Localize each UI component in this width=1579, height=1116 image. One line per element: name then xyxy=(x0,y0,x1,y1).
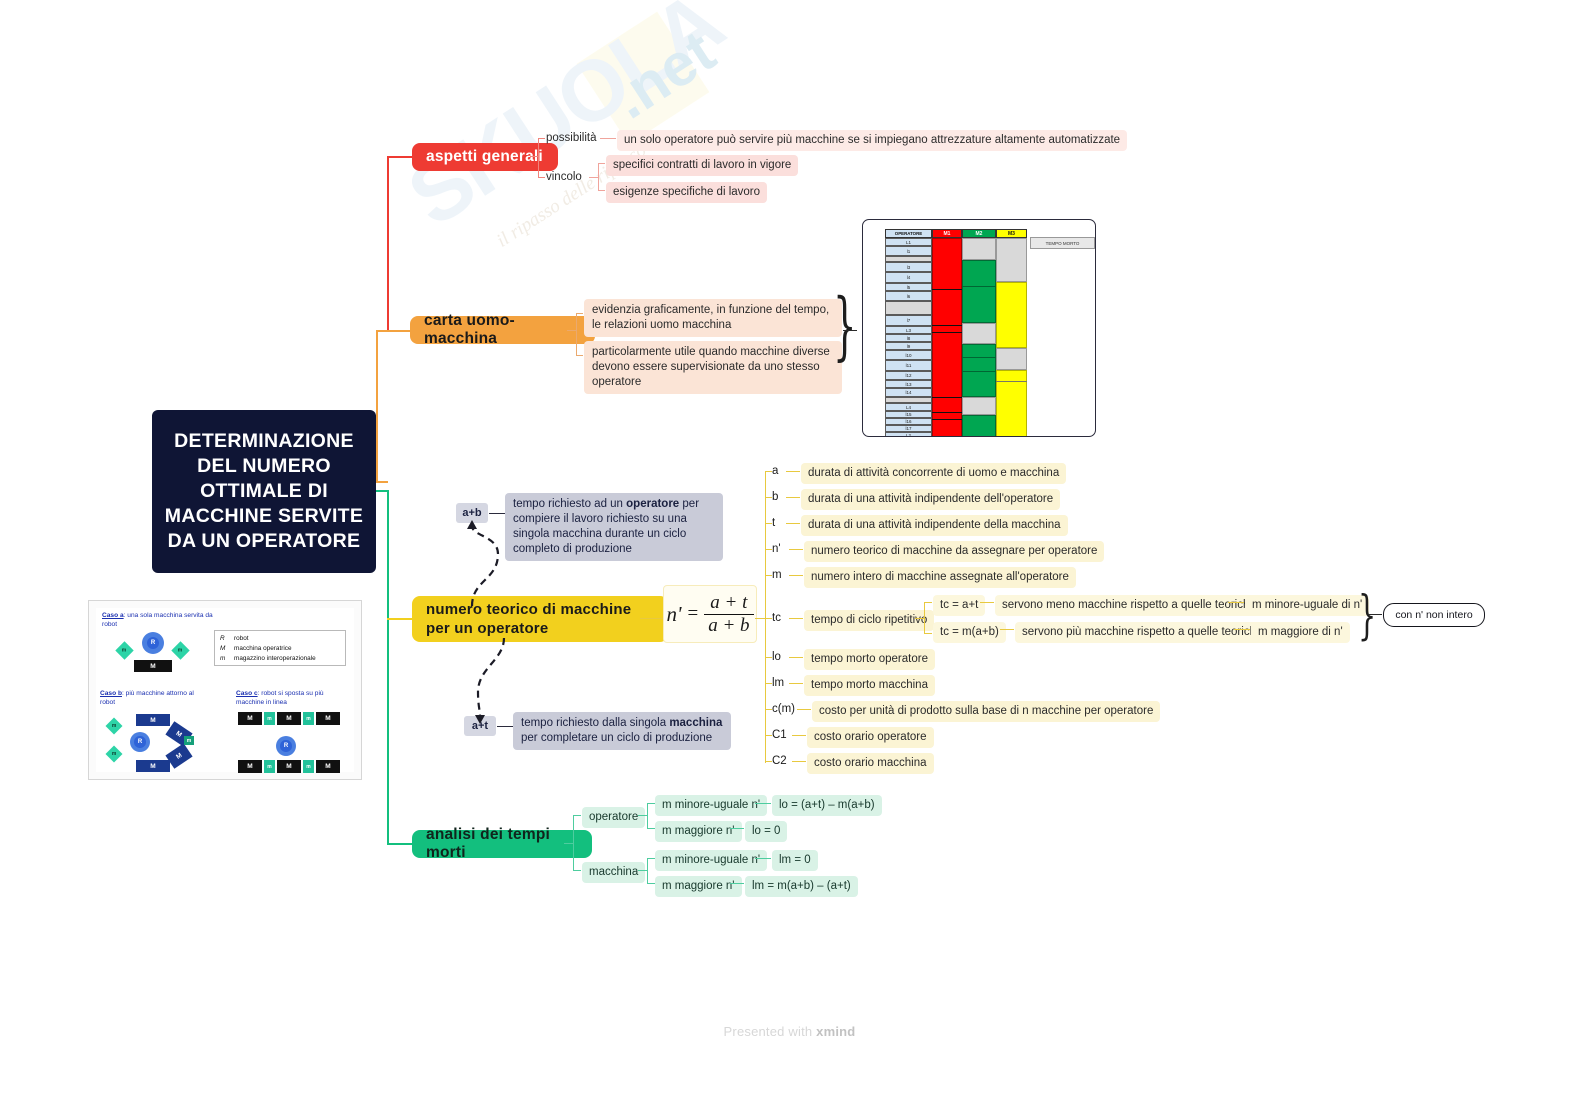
glossary-def-nprime: numero teorico di macchine da assegnare … xyxy=(804,541,1104,562)
connector-analisi xyxy=(387,843,413,845)
dashed-arrow-at xyxy=(452,638,582,724)
chart-div xyxy=(932,325,962,326)
store-box: m xyxy=(303,760,314,773)
chart-op-cell: l5 xyxy=(885,283,932,291)
glossary-def-c1: costo orario operatore xyxy=(807,727,934,748)
legend-def-mm: magazzino interoperazionale xyxy=(234,655,316,662)
trunk-orange-vertical xyxy=(376,330,378,482)
formula-n-teorico: n' = a + t a + b xyxy=(663,585,757,643)
trunk-orange-stub xyxy=(376,481,388,483)
legend-sym-mm: m xyxy=(220,654,234,664)
chart-bar-m3 xyxy=(996,282,1027,348)
chart-op-cell: l15 xyxy=(885,411,932,418)
chart-bar-m3-idle xyxy=(996,238,1027,282)
chart-bar-m2-idle xyxy=(962,397,996,415)
machine-box: M xyxy=(134,660,172,672)
chart-op-cell: l4 xyxy=(885,272,932,283)
chart-bar-m3-idle xyxy=(996,348,1027,370)
group-label-operatore: operatore xyxy=(582,807,645,828)
chart-bar-m2 xyxy=(962,260,996,323)
store-token: m xyxy=(112,751,116,757)
glossary-dash xyxy=(789,549,803,550)
caso-b-label: Caso b xyxy=(100,690,122,697)
callout-bold-operatore: operatore xyxy=(626,498,679,510)
formula-numerator: a + t xyxy=(706,593,751,614)
glossary-dash xyxy=(786,523,800,524)
glossary-dash xyxy=(792,761,806,762)
connector-possibilita-leaf xyxy=(600,138,616,139)
store-token: m xyxy=(178,647,182,653)
store-diamond: m xyxy=(115,641,133,659)
fork-macchina-stem xyxy=(638,870,647,871)
store-box: m xyxy=(264,760,275,773)
glossary-sym-nprime: n' xyxy=(772,542,781,556)
fork-vincolo-stem xyxy=(589,177,598,178)
dashed-arrow-ab xyxy=(450,520,580,610)
store-token: m xyxy=(112,723,116,729)
legend-def-m: macchina operatrice xyxy=(234,645,292,652)
case-dash xyxy=(755,803,771,804)
tc-case-1-formula: tc = a+t xyxy=(933,595,985,616)
mindmap-canvas: SKUOLA .net il ripasso delle ripasso DET… xyxy=(0,0,1579,1116)
glossary-def-m: numero intero di macchine assegnate all'… xyxy=(804,567,1076,588)
trunk-red-vertical xyxy=(387,157,389,331)
glossary-sym-c1: C1 xyxy=(772,728,787,742)
robot-token: R xyxy=(134,736,146,748)
case-macchina-2-result: lm = m(a+b) – (a+t) xyxy=(745,876,858,897)
glossary-def-lo: tempo morto operatore xyxy=(804,649,935,670)
fork-operatore-up xyxy=(647,803,655,804)
fork-macchina-down xyxy=(647,883,655,884)
chart-header-m1: M1 xyxy=(932,229,962,238)
chart-div xyxy=(962,371,996,372)
chart-op-cell: l17 xyxy=(885,425,932,432)
glossary-sym-lo: lo xyxy=(772,650,781,664)
fork-aspetti-vertical xyxy=(538,138,539,178)
chart-op-cell: l10 xyxy=(885,350,932,360)
brace-tc: } xyxy=(1358,590,1376,642)
final-note-label: con n' non intero xyxy=(1395,609,1472,621)
fork-analisi-vertical xyxy=(573,815,574,871)
topic-analisi-label: analisi dei tempi morti xyxy=(426,826,578,862)
final-note-n-non-intero: con n' non intero xyxy=(1383,603,1485,627)
store-diamond: m xyxy=(171,641,189,659)
glossary-sym-b: b xyxy=(772,490,778,504)
glossary-sym-cm: c(m) xyxy=(772,702,795,716)
case-dash xyxy=(730,883,744,884)
chart-op-cell: l6 xyxy=(885,291,932,301)
chart-div xyxy=(962,357,996,358)
glossary-tick xyxy=(765,618,772,619)
glossary-dash xyxy=(789,683,803,684)
chart-inner: TEMPO MORTO OPERATORE M1 M2 M3 L1 l1 l3 … xyxy=(875,229,1083,425)
trunk-green-vertical xyxy=(387,490,389,844)
chart-div xyxy=(932,412,962,413)
man-machine-chart-image: TEMPO MORTO OPERATORE M1 M2 M3 L1 l1 l3 … xyxy=(862,219,1096,437)
footer-prefix: Presented with xyxy=(724,1024,817,1039)
note-carta-2: particolarmente utile quando macchine di… xyxy=(584,341,842,394)
chart-legend-tempo-morto: TEMPO MORTO xyxy=(1030,237,1095,249)
xmind-footer: Presented with xmind xyxy=(0,1024,1579,1039)
root-title: DETERMINAZIONE DEL NUMERO OTTIMALE DI MA… xyxy=(152,429,376,554)
glossary-sym-c2: C2 xyxy=(772,754,787,768)
fork-aspetti-up xyxy=(538,138,545,139)
glossary-def-cm: costo per unità di prodotto sulla base d… xyxy=(812,701,1160,722)
robot-token: R xyxy=(280,740,292,752)
brace-carta: } xyxy=(833,289,857,363)
legend-def-r: robot xyxy=(234,635,249,642)
topic-carta-label: carta uomo-macchina xyxy=(424,312,581,348)
store-token: m xyxy=(122,647,126,653)
chart-op-cell: l11 xyxy=(885,360,932,371)
chart-div xyxy=(996,381,1027,382)
chart-op-cell: l7 xyxy=(885,315,932,326)
fork-carta-down xyxy=(576,355,583,356)
chart-op-cell: L1 xyxy=(885,238,932,246)
glossary-def-c2: costo orario macchina xyxy=(807,753,934,774)
glossary-def-tc: tempo di ciclo ripetitivo xyxy=(804,610,934,631)
glossary-sym-t: t xyxy=(772,516,775,530)
machine-box: M xyxy=(316,760,340,773)
glossary-dash xyxy=(792,735,806,736)
glossary-sym-a: a xyxy=(772,464,778,478)
case-macchina-1-cond: m minore-uguale n' xyxy=(655,850,767,871)
case-operatore-2-cond: m maggiore n' xyxy=(655,821,742,842)
leaf-vincolo-2: esigenze specifiche di lavoro xyxy=(606,182,767,203)
case-macchina-2-cond: m maggiore n' xyxy=(655,876,742,897)
formula-denominator: a + b xyxy=(704,614,753,636)
machine-box: M xyxy=(316,712,340,725)
tc-dash-1 xyxy=(980,602,994,603)
robot-cases-inner: Caso a: una sola macchina servita da rob… xyxy=(96,608,354,772)
fork-carta-stem xyxy=(567,330,576,331)
chart-header-operatore: OPERATORE xyxy=(885,229,932,238)
tc-dash-2 xyxy=(1000,629,1014,630)
glossary-dash xyxy=(789,575,803,576)
watermark-square xyxy=(577,12,710,145)
connector-carta xyxy=(376,330,412,332)
fork-analisi-stem xyxy=(564,843,573,844)
fork-vincolo-up xyxy=(598,163,605,164)
tc-dash-1b xyxy=(1228,602,1244,603)
topic-aspetti-label: aspetti generali xyxy=(426,148,543,166)
legend-row-robot: Rrobot xyxy=(220,634,345,644)
robot-disc-b: R xyxy=(130,732,150,752)
label-vincolo: vincolo xyxy=(546,170,582,184)
glossary-dash xyxy=(797,709,811,710)
connector-aspetti xyxy=(387,156,413,158)
fork-operatore-stem xyxy=(638,815,647,816)
glossary-tick xyxy=(765,709,772,710)
glossary-spine xyxy=(765,471,766,763)
store-diamond: m xyxy=(106,718,123,735)
chart-op-cell: l3 xyxy=(885,262,932,272)
caso-a-label: Caso a xyxy=(102,612,124,619)
machine-box: M xyxy=(136,760,170,772)
glossary-tick xyxy=(765,471,772,472)
glossary-stem xyxy=(755,618,765,619)
tc-case-2-consequence: servono più macchine rispetto a quelle t… xyxy=(1015,622,1269,643)
machine-box: M xyxy=(277,712,301,725)
glossary-tick xyxy=(765,761,772,762)
fork-tc-up xyxy=(924,602,932,603)
chart-op-cell: l8 xyxy=(885,334,932,342)
leaf-vincolo-1: specifici contratti di lavoro in vigore xyxy=(606,155,798,176)
fork-aspetti-down xyxy=(538,177,545,178)
fork-macchina-up xyxy=(647,858,655,859)
caso-c-label: Caso c xyxy=(236,690,258,697)
chart-bar-m2-idle xyxy=(962,238,996,260)
formula-lhs: n' xyxy=(666,602,681,627)
fork-macchina-vertical xyxy=(647,858,648,884)
legend-sym-m: M xyxy=(220,644,234,654)
chart-div xyxy=(932,419,962,420)
chart-bar-m2-idle xyxy=(962,323,996,344)
chart-div xyxy=(932,397,962,398)
caso-b-title: Caso b: più macchine attorno al robot xyxy=(100,690,210,707)
case-dash xyxy=(755,858,771,859)
robot-disc-a: R xyxy=(142,632,164,654)
case-operatore-1-result: lo = (a+t) – m(a+b) xyxy=(772,795,882,816)
chart-op-cell: l16 xyxy=(885,418,932,425)
machine-box: M xyxy=(277,760,301,773)
formula-fraction: a + t a + b xyxy=(704,593,753,636)
glossary-dash xyxy=(786,497,800,498)
formula-equals: = xyxy=(687,603,698,625)
fork-vincolo-down xyxy=(598,190,605,191)
legend-row-store: mmagazzino interoperazionale xyxy=(220,654,345,664)
glossary-dash xyxy=(786,471,800,472)
glossary-tick xyxy=(765,549,772,550)
connector-final-note xyxy=(1368,614,1382,615)
machine-box: M xyxy=(238,760,262,773)
glossary-def-a: durata di attività concorrente di uomo e… xyxy=(801,463,1066,484)
fork-analisi-down xyxy=(573,870,581,871)
root-node[interactable]: DETERMINAZIONE DEL NUMERO OTTIMALE DI MA… xyxy=(152,410,376,573)
fork-vincolo-vertical xyxy=(598,163,599,191)
fork-tc-down xyxy=(924,633,932,634)
tc-case-2-formula: tc = m(a+b) xyxy=(933,622,1006,643)
chart-op-cell: l12 xyxy=(885,371,932,380)
chart-op-cell: L3 xyxy=(885,326,932,334)
chart-op-cell: l9 xyxy=(885,342,932,350)
chart-bar-m2 xyxy=(962,415,996,437)
fork-tc-stem xyxy=(915,618,924,619)
case-operatore-1-cond: m minore-uguale n' xyxy=(655,795,767,816)
glossary-tick xyxy=(765,735,772,736)
chart-op-cell: l14 xyxy=(885,388,932,397)
fork-analisi-up xyxy=(573,815,581,816)
legend-sym-r: R xyxy=(220,634,234,644)
tc-dash-2b xyxy=(1234,629,1250,630)
connector-numero xyxy=(387,618,413,620)
watermark-brand: SKUOLA xyxy=(391,0,739,247)
robot-legend: Rrobot Mmacchina operatrice mmagazzino i… xyxy=(214,630,346,666)
store-diamond: m xyxy=(106,746,123,763)
tc-case-1-consequence: servono meno macchine rispetto a quelle … xyxy=(995,595,1263,616)
connector-formula xyxy=(640,618,664,619)
glossary-def-t: durata di una attività indipendente dell… xyxy=(801,515,1068,536)
group-label-macchina: macchina xyxy=(582,862,645,883)
chart-op-cell xyxy=(885,301,932,315)
glossary-dash xyxy=(789,657,803,658)
store-box: m xyxy=(303,712,314,725)
footer-brand: xmind xyxy=(816,1024,855,1039)
glossary-tick xyxy=(765,657,772,658)
case-macchina-1-result: lm = 0 xyxy=(772,850,818,871)
machine-box: M xyxy=(238,712,262,725)
glossary-def-b: durata di una attività indipendente dell… xyxy=(801,489,1060,510)
note-carta-1: evidenzia graficamente, in funzione del … xyxy=(584,299,842,337)
chart-op-cell: l1 xyxy=(885,246,932,256)
legend-row-machine: Mmacchina operatrice xyxy=(220,644,345,654)
callout-bold-macchina: macchina xyxy=(669,717,722,729)
chart-header-m2: M2 xyxy=(962,229,996,238)
chart-bar-m1 xyxy=(932,238,962,437)
glossary-tick xyxy=(765,523,772,524)
caso-c-title: Caso c: robot si sposta su più macchine … xyxy=(236,690,352,707)
glossary-sym-lm: lm xyxy=(772,676,784,690)
chart-op-cell: L4 xyxy=(885,403,932,411)
robot-disc-c: R xyxy=(276,736,296,756)
robot-cases-image: Caso a: una sola macchina servita da rob… xyxy=(88,600,362,780)
store-box: m xyxy=(264,712,275,725)
glossary-dash xyxy=(789,618,803,619)
watermark-domain: .net xyxy=(600,17,727,133)
chart-op-cell: l13 xyxy=(885,380,932,388)
chart-header-m3: M3 xyxy=(996,229,1027,238)
glossary-tick xyxy=(765,683,772,684)
tc-case-2-result: m maggiore di n' xyxy=(1251,622,1350,643)
case-dash xyxy=(730,828,744,829)
connector-at xyxy=(497,726,513,727)
connector-carta-chart xyxy=(843,330,857,331)
caso-a-title: Caso a: una sola macchina servita da rob… xyxy=(102,612,217,629)
glossary-sym-m: m xyxy=(772,568,782,582)
fork-operatore-down xyxy=(647,828,655,829)
glossary-def-lm: tempo morto macchina xyxy=(804,675,935,696)
glossary-sym-tc: tc xyxy=(772,611,781,625)
glossary-tick xyxy=(765,497,772,498)
connector-ab xyxy=(489,513,505,514)
store-box: m xyxy=(184,736,194,745)
chart-div xyxy=(932,332,962,333)
chart-div xyxy=(932,289,962,290)
fork-carta-up xyxy=(576,313,583,314)
case-operatore-2-result: lo = 0 xyxy=(745,821,787,842)
chart-div xyxy=(962,286,996,287)
machine-box: M xyxy=(136,714,170,726)
fork-aspetti-stem xyxy=(530,156,538,157)
fork-operatore-vertical xyxy=(647,803,648,829)
tc-case-1-result: m minore-uguale di n' xyxy=(1245,595,1369,616)
chart-op-cell: L2 xyxy=(885,432,932,437)
robot-token: R xyxy=(147,637,160,650)
fork-carta-vertical xyxy=(576,313,577,356)
fork-tc-vertical xyxy=(924,602,925,634)
glossary-tick xyxy=(765,575,772,576)
leaf-possibilita-1: un solo operatore può servire più macchi… xyxy=(617,130,1127,151)
label-possibilita: possibilità xyxy=(546,131,597,145)
